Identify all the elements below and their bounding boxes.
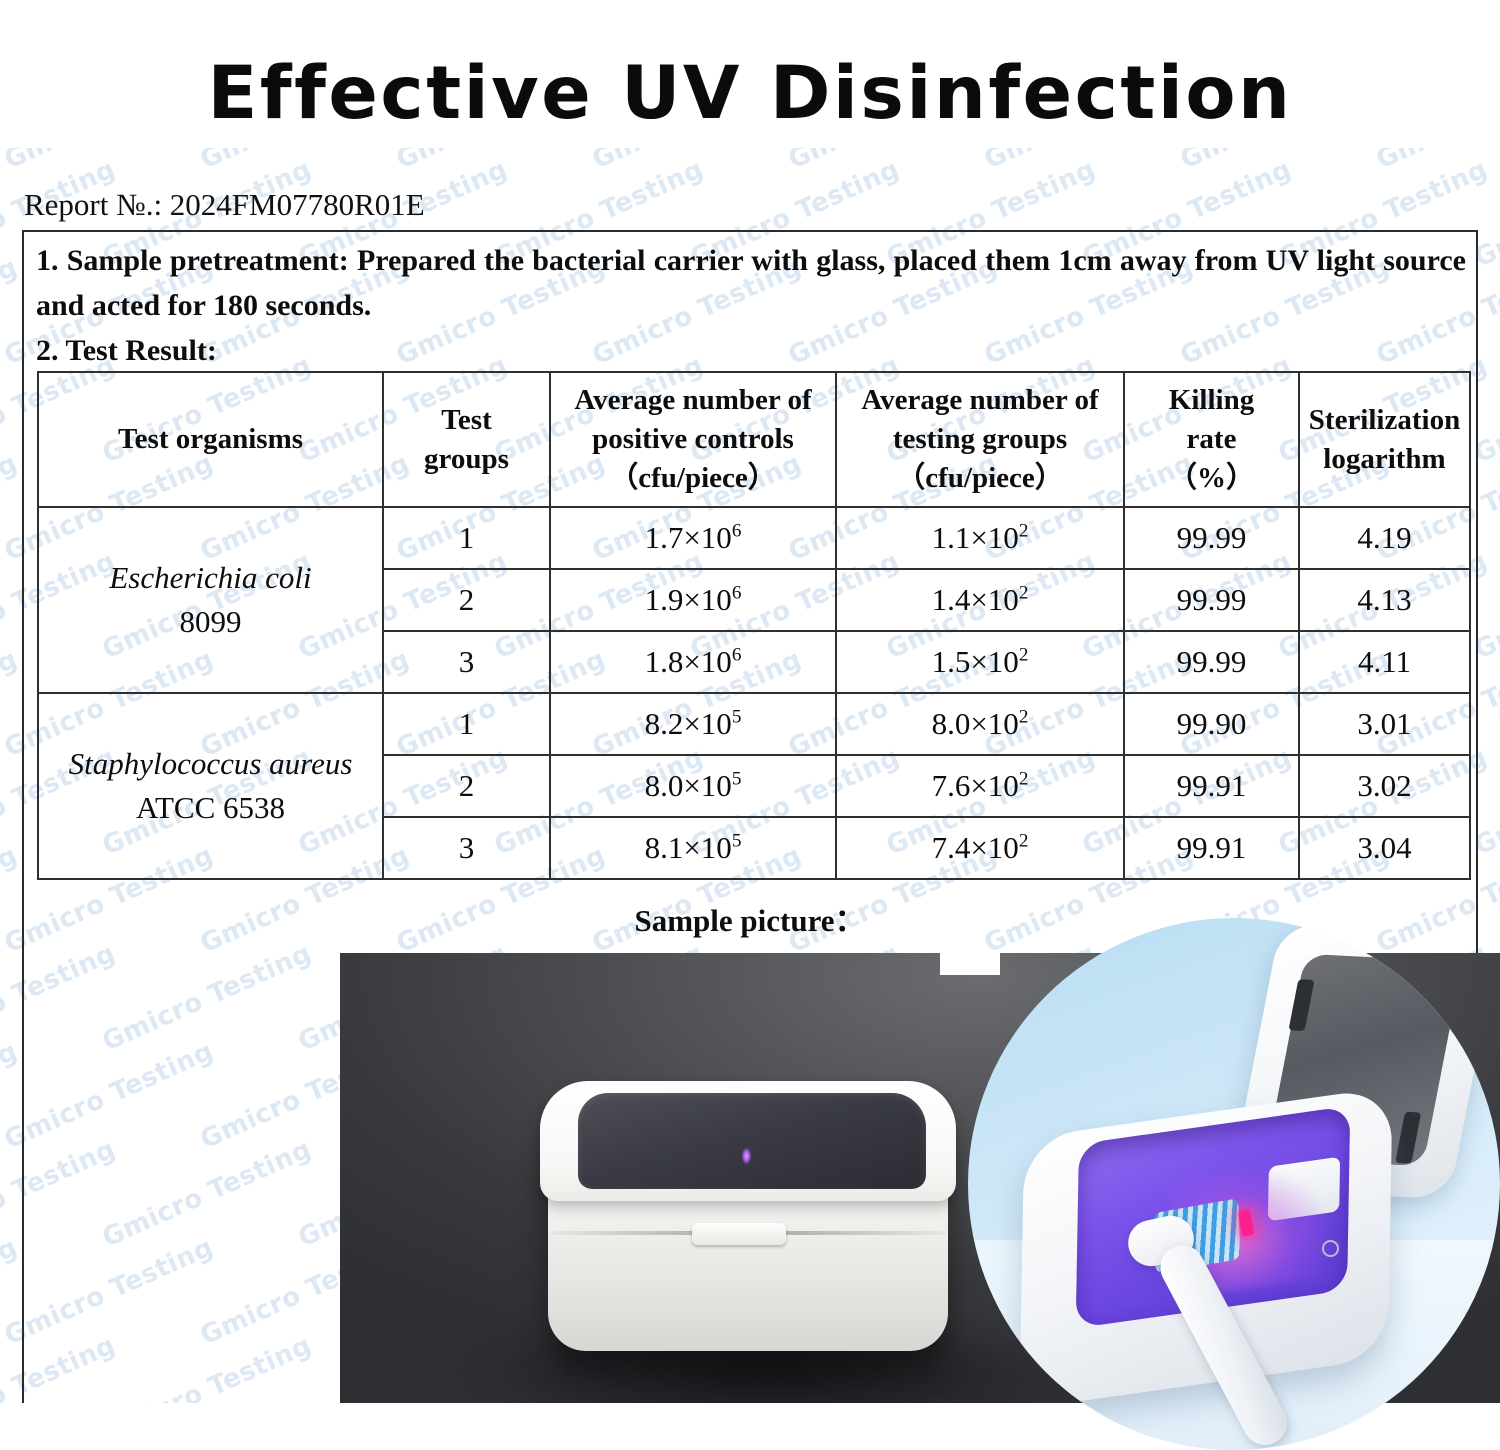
watermark-text: Gmicro Testing bbox=[0, 448, 22, 567]
cell-organism: Escherichia coli8099 bbox=[38, 507, 383, 693]
cell-positive-control: 1.8×106 bbox=[550, 631, 836, 693]
cell-sterilization-log: 4.11 bbox=[1299, 631, 1470, 693]
col-header-log-line2: logarithm bbox=[1304, 440, 1465, 479]
organism-species: Staphylococcus aureus bbox=[39, 742, 382, 786]
watermark-text: Gmicro Testing bbox=[1372, 148, 1500, 175]
col-header-test-line1: Average number of bbox=[841, 381, 1119, 420]
cell-test-group: 2 bbox=[383, 569, 550, 631]
watermark-text: Gmicro Testing bbox=[0, 1036, 22, 1155]
col-header-groups: Test groups bbox=[383, 372, 550, 507]
organism-species: Escherichia coli bbox=[39, 556, 382, 600]
cell-killing-rate: 99.91 bbox=[1124, 755, 1299, 817]
col-header-organisms-label: Test organisms bbox=[118, 423, 303, 455]
cell-positive-control: 8.1×105 bbox=[550, 817, 836, 879]
cell-testing-group: 1.4×102 bbox=[836, 569, 1124, 631]
page-title: Effective UV Disinfection bbox=[0, 49, 1500, 139]
test-result-heading: 2. Test Result: bbox=[36, 328, 1466, 373]
col-header-kill-line2: rate bbox=[1129, 420, 1294, 459]
watermark-text: Gmicro Testing bbox=[980, 148, 1198, 175]
cell-test-group: 1 bbox=[383, 693, 550, 755]
results-table-wrap: Test organisms Test groups Average numbe… bbox=[37, 371, 1469, 880]
cell-sterilization-log: 4.19 bbox=[1299, 507, 1470, 569]
cell-positive-control: 1.7×106 bbox=[550, 507, 836, 569]
watermark-text: Gmicro Testing bbox=[392, 148, 610, 175]
cell-sterilization-log: 4.13 bbox=[1299, 569, 1470, 631]
cell-testing-group: 7.6×102 bbox=[836, 755, 1124, 817]
cell-sterilization-log: 3.04 bbox=[1299, 817, 1470, 879]
col-header-pos-line2: positive controls bbox=[555, 420, 831, 459]
cell-test-group: 1 bbox=[383, 507, 550, 569]
cell-killing-rate: 99.99 bbox=[1124, 569, 1299, 631]
organism-strain: 8099 bbox=[39, 600, 382, 644]
col-header-organisms: Test organisms bbox=[38, 372, 383, 507]
cell-testing-group: 1.1×102 bbox=[836, 507, 1124, 569]
col-header-test-line2: testing groups bbox=[841, 420, 1119, 459]
cell-testing-group: 7.4×102 bbox=[836, 817, 1124, 879]
cell-test-group: 3 bbox=[383, 817, 550, 879]
uv-indicator-glow bbox=[742, 1148, 751, 1164]
cell-killing-rate: 99.90 bbox=[1124, 693, 1299, 755]
table-row: Escherichia coli809911.7×1061.1×10299.99… bbox=[38, 507, 1470, 569]
cell-test-group: 2 bbox=[383, 755, 550, 817]
col-header-testing-groups: Average number of testing groups （cfu/pi… bbox=[836, 372, 1124, 507]
sterilizer-box-latch bbox=[692, 1223, 786, 1245]
watermark-text: Gmicro Testing bbox=[1176, 148, 1394, 175]
cell-positive-control: 1.9×106 bbox=[550, 569, 836, 631]
col-header-groups-line2: groups bbox=[388, 440, 545, 479]
watermark-text: Gmicro Testing bbox=[0, 148, 22, 175]
col-header-groups-line1: Test bbox=[388, 401, 545, 440]
render-corner-mask bbox=[940, 953, 1000, 975]
product-render-circle bbox=[968, 918, 1500, 1450]
cell-testing-group: 1.5×102 bbox=[836, 631, 1124, 693]
cell-killing-rate: 99.99 bbox=[1124, 631, 1299, 693]
cell-positive-control: 8.0×105 bbox=[550, 755, 836, 817]
col-header-kill-line1: Killing bbox=[1129, 381, 1294, 420]
render-power-button-icon bbox=[1322, 1240, 1339, 1257]
cell-killing-rate: 99.91 bbox=[1124, 817, 1299, 879]
results-table: Test organisms Test groups Average numbe… bbox=[37, 371, 1471, 880]
organism-strain: ATCC 6538 bbox=[39, 786, 382, 830]
col-header-test-line3: （cfu/piece） bbox=[841, 459, 1119, 498]
watermark-text: Gmicro Testing bbox=[0, 644, 22, 763]
watermark-text: Gmicro Testing bbox=[0, 148, 218, 175]
watermark-text: Gmicro Testing bbox=[0, 252, 22, 371]
cell-organism: Staphylococcus aureusATCC 6538 bbox=[38, 693, 383, 879]
report-number: Report №.: 2024FM07780R01E bbox=[24, 186, 425, 224]
watermark-text: Gmicro Testing bbox=[196, 148, 414, 175]
col-header-sterilization-log: Sterilization logarithm bbox=[1299, 372, 1470, 507]
col-header-pos-line3: （cfu/piece） bbox=[555, 459, 831, 498]
sterilizer-box-glass-lid bbox=[578, 1093, 926, 1189]
watermark-text: Gmicro Testing bbox=[588, 148, 806, 175]
cell-sterilization-log: 3.02 bbox=[1299, 755, 1470, 817]
table-row: Staphylococcus aureusATCC 653818.2×1058.… bbox=[38, 693, 1470, 755]
col-header-pos-line1: Average number of bbox=[555, 381, 831, 420]
cell-test-group: 3 bbox=[383, 631, 550, 693]
cell-killing-rate: 99.99 bbox=[1124, 507, 1299, 569]
sample-pretreatment-text: 1. Sample pretreatment: Prepared the bac… bbox=[36, 238, 1466, 328]
intro-section: 1. Sample pretreatment: Prepared the bac… bbox=[36, 238, 1466, 373]
watermark-text: Gmicro Testing bbox=[0, 1232, 22, 1351]
table-header-row: Test organisms Test groups Average numbe… bbox=[38, 372, 1470, 507]
cell-sterilization-log: 3.01 bbox=[1299, 693, 1470, 755]
col-header-killing-rate: Killing rate （%） bbox=[1124, 372, 1299, 507]
col-header-kill-line3: （%） bbox=[1129, 459, 1294, 498]
col-header-positive-controls: Average number of positive controls （cfu… bbox=[550, 372, 836, 507]
watermark-text: Gmicro Testing bbox=[784, 148, 1002, 175]
cell-testing-group: 8.0×102 bbox=[836, 693, 1124, 755]
col-header-log-line1: Sterilization bbox=[1304, 401, 1465, 440]
cell-positive-control: 8.2×105 bbox=[550, 693, 836, 755]
